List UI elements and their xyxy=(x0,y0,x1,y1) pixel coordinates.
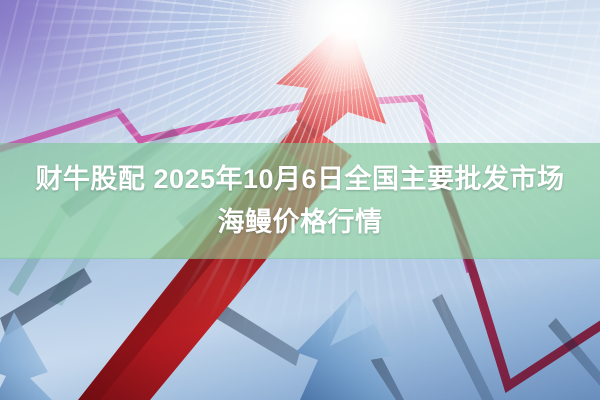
page-title: 财牛股配 2025年10月6日全国主要批发市场海鳗价格行情 xyxy=(0,158,600,244)
lower-blue-band xyxy=(0,258,600,400)
banner-image: 财牛股配 2025年10月6日全国主要批发市场海鳗价格行情 xyxy=(0,0,600,400)
